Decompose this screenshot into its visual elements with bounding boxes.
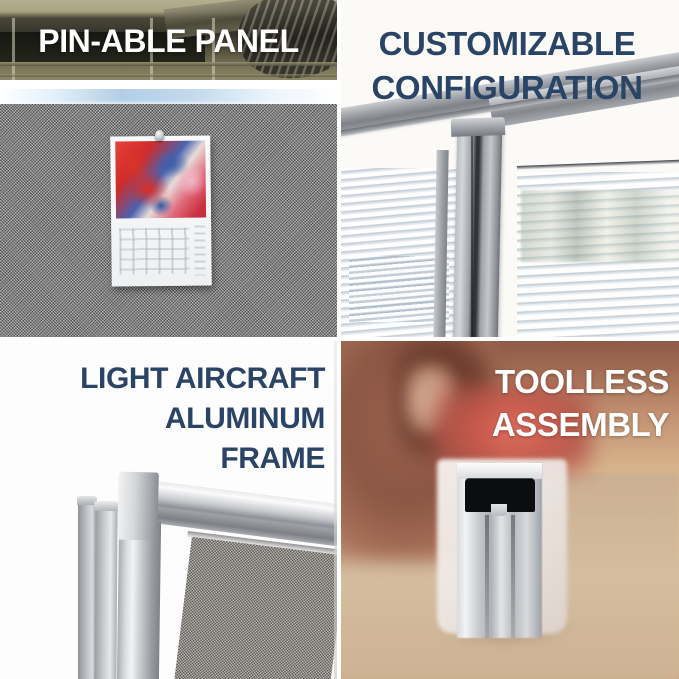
panel-light-aircraft-aluminum-frame: LIGHT AIRCRAFT ALUMINUM FRAME xyxy=(0,341,337,679)
ceiling-beam xyxy=(0,62,337,66)
glass-pane-right xyxy=(517,172,679,337)
feature-infographic: PIN-ABLE PANEL CUSTOMIZABLE CONFIGURATIO… xyxy=(0,0,679,679)
mullion-post xyxy=(453,130,502,337)
frame-post-middle xyxy=(94,504,117,679)
extrusion-rib xyxy=(485,515,489,638)
ceiling-beam xyxy=(0,74,337,77)
mullion-cap xyxy=(451,117,506,137)
calendar-date-grid xyxy=(119,228,189,275)
calendar-artwork xyxy=(115,141,206,219)
panel-right-edge xyxy=(334,341,337,679)
duct-icon xyxy=(235,0,337,84)
frame-corner-post xyxy=(117,521,161,679)
panel-pin-able-panel: PIN-ABLE PANEL xyxy=(0,0,337,337)
ceiling-post xyxy=(12,18,15,82)
window-outside-view xyxy=(521,190,679,262)
pinned-calendar xyxy=(110,135,212,286)
mullion-seam xyxy=(471,136,473,337)
panel-customizable-configuration: CUSTOMIZABLE CONFIGURATION xyxy=(341,0,679,337)
frame-post-middle-cap xyxy=(94,501,118,511)
frame-corner-block xyxy=(117,471,159,540)
extrusion-top-face xyxy=(457,463,542,479)
push-pin-icon xyxy=(155,130,164,141)
fabric-panel-insert xyxy=(174,537,337,679)
extrusion-rib xyxy=(511,515,515,638)
ceiling-background xyxy=(0,0,337,82)
frame-post-rear xyxy=(78,499,96,679)
ceiling-post xyxy=(150,18,153,82)
extrusion-notch xyxy=(491,504,507,516)
panel-toolless-assembly: TOOLLESS ASSEMBLY xyxy=(341,341,679,679)
calendar-side-text xyxy=(194,226,206,276)
fluorescent-light-band xyxy=(0,80,337,106)
ceiling-post xyxy=(212,18,215,82)
